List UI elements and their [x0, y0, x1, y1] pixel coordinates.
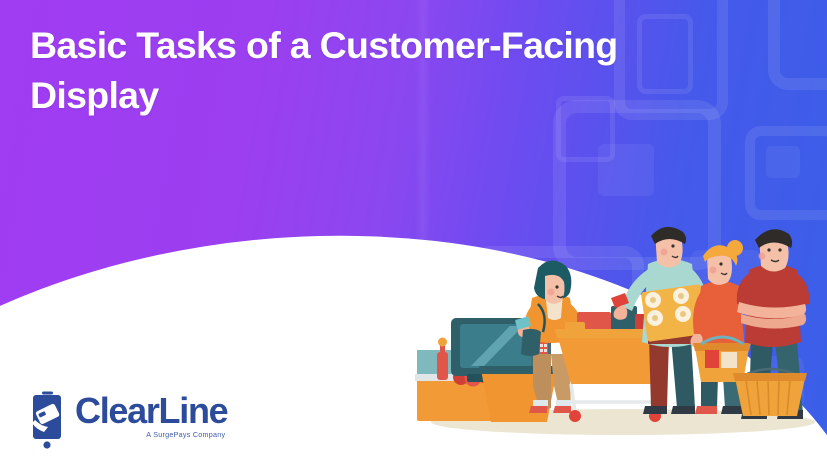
woman2-eye [719, 262, 722, 265]
man3-eye-right [778, 248, 781, 251]
cashier-sock-left [533, 400, 548, 406]
bottle-cap [438, 338, 447, 347]
logo-phone-speaker [42, 392, 53, 395]
floor-basket-rim [733, 373, 807, 381]
woman2-shoe-right [721, 406, 743, 414]
man1-leg-left [649, 338, 669, 408]
basket-item-2 [721, 352, 737, 368]
bottle-body [437, 352, 448, 380]
slide-canvas: Basic Tasks of a Customer-Facing Display [0, 0, 827, 466]
man1-shoe-right [671, 406, 695, 414]
woman2-cheek [710, 267, 717, 274]
man1-eye [671, 244, 674, 247]
cart-wheel-left [569, 410, 581, 422]
woman2-bun [727, 240, 743, 256]
clearline-logo-icon [28, 388, 68, 450]
cashier-face [545, 275, 565, 304]
cashier-sock-right [556, 400, 571, 406]
logo-phone-home-dot [43, 441, 50, 448]
clearline-logo-text: ClearLine A SurgePays Company [75, 388, 227, 429]
cashier-shoe-left [529, 406, 547, 413]
clearline-wordmark: ClearLine [75, 393, 227, 429]
clearline-tagline: A SurgePays Company [146, 430, 225, 439]
man3-cheek [759, 253, 766, 260]
shoulder-bag [521, 329, 541, 356]
page-title: Basic Tasks of a Customer-Facing Display [30, 21, 810, 121]
cashier-eye [555, 285, 558, 288]
man-arms-crossed [733, 229, 809, 419]
cashier-shoe-right [553, 406, 571, 413]
decor-qr-block-1 [598, 144, 654, 196]
man1-shoe-left [643, 406, 667, 414]
man1-leg-right [671, 338, 695, 408]
floor-basket [735, 378, 805, 416]
man1-cheek [661, 249, 668, 256]
decor-qr-block-2 [766, 146, 800, 178]
clearline-logo[interactable]: ClearLine A SurgePays Company [28, 388, 227, 450]
man3-eye-left [767, 248, 770, 251]
retail-checkout-queue-illustration [405, 226, 827, 466]
basket-item-1 [705, 350, 719, 368]
cashier-cheek [548, 289, 555, 296]
woman2-shoe-left [695, 406, 717, 414]
